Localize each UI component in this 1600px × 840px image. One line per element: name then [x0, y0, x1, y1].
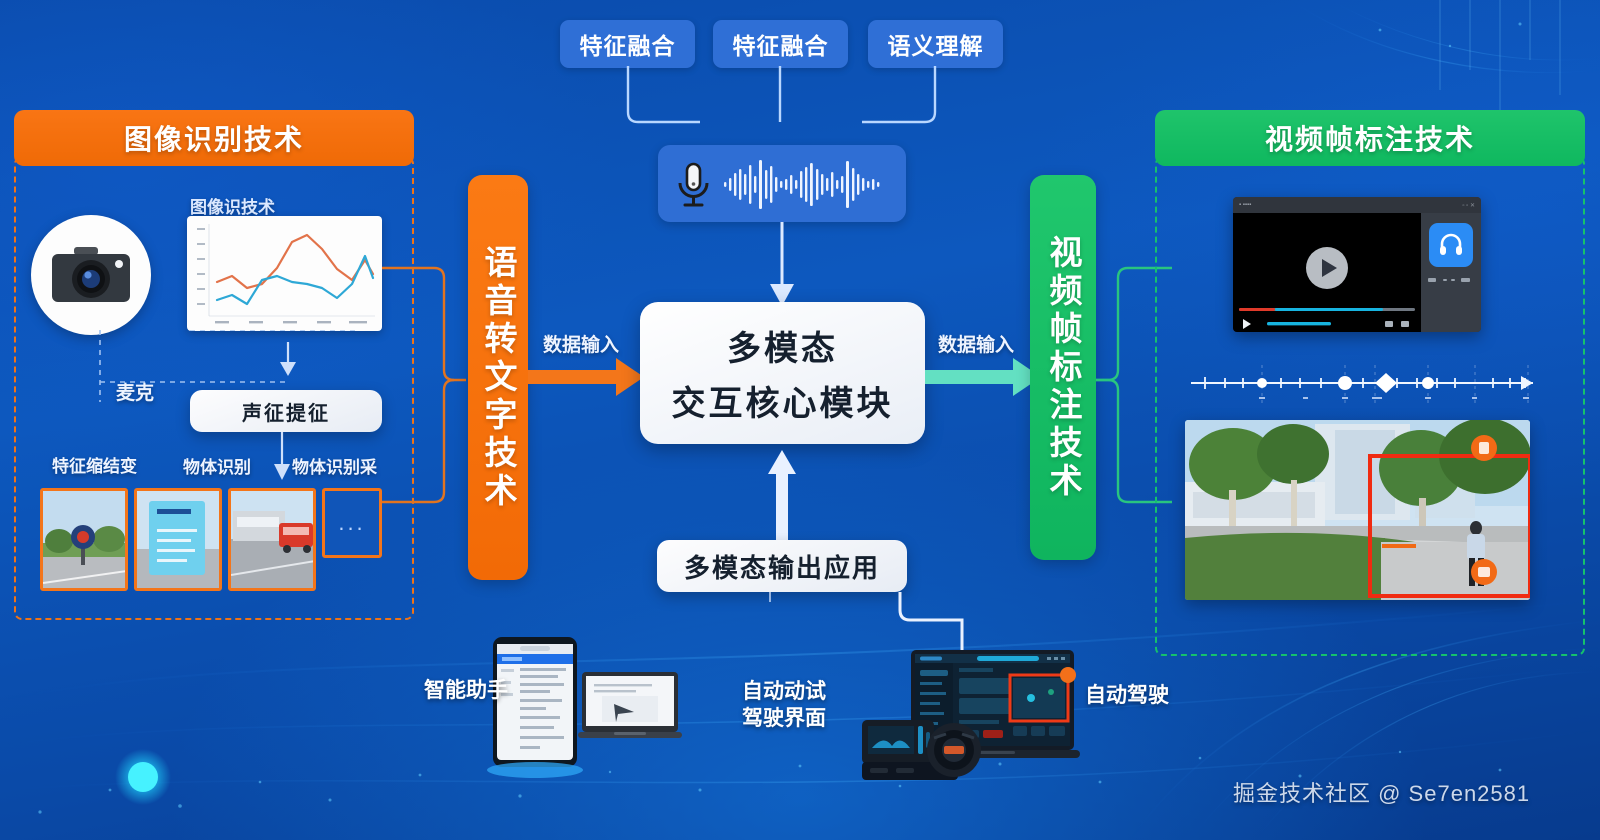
camera-icon — [48, 240, 134, 310]
console-steering-mock — [862, 710, 984, 780]
waveform-icon — [722, 156, 897, 212]
headphone-icon — [1437, 231, 1465, 259]
left-panel-header: 图像识别技术 — [14, 110, 414, 166]
video-player-titlebar: ▪ ▪▪▪▪ ▫ ▫ ✕ — [1233, 197, 1481, 213]
more-dots-label: ... — [338, 510, 365, 536]
arrow-right-data-input — [925, 352, 1043, 402]
video-player-title-text: ▪ ▪▪▪▪ — [1239, 202, 1251, 208]
steering-device-image — [862, 710, 984, 780]
mic-label: 麦克 — [116, 378, 154, 405]
line-chart — [187, 216, 382, 331]
vertical-bar-label: 视频帧标注技术 — [1039, 235, 1087, 501]
video-sidebar — [1421, 213, 1481, 332]
thumbnail-image — [231, 491, 315, 590]
sidebar-controls — [1427, 275, 1475, 285]
thumbnail-image — [137, 491, 221, 590]
diagram-canvas: 特征融合 特征融合 语义理解 — [0, 0, 1600, 840]
output-application-label: 多模态输出应用 — [684, 548, 880, 585]
arrow-output-to-core — [760, 444, 804, 542]
video-controls[interactable] — [1233, 302, 1421, 332]
assistant-laptop-mock[interactable] — [578, 672, 682, 742]
vertical-bar-label: 语音转文字技术 — [474, 245, 522, 511]
vertical-bar-video-annotation[interactable]: 视频帧标注技术 — [1030, 175, 1096, 560]
right-panel-title: 视频帧标注技术 — [1265, 118, 1475, 158]
thumbnail-image — [43, 491, 127, 590]
arrow-mic-to-core — [760, 222, 804, 312]
thumbnail-billboard[interactable] — [134, 488, 222, 591]
app-icon[interactable] — [1429, 223, 1473, 267]
annotation-handle-top[interactable] — [1466, 430, 1502, 466]
label-driving-ui-line1: 自动动试 — [742, 678, 826, 705]
feature-extraction-box[interactable]: 声征提征 — [190, 390, 382, 432]
chip-semantic-understanding[interactable]: 语义理解 — [868, 20, 1003, 68]
vertical-bar-speech-to-text[interactable]: 语音转文字技术 — [468, 175, 528, 580]
feature-extraction-label: 声征提征 — [242, 397, 330, 426]
core-module[interactable]: 多模态 交互核心模块 — [640, 302, 925, 444]
video-screen — [1233, 213, 1421, 332]
left-brace-connector — [382, 260, 472, 510]
label-driving-ui: 自动动试 驾驶界面 — [742, 678, 826, 733]
play-button-icon[interactable] — [1306, 247, 1348, 289]
label-autodrive: 自动驾驶 — [1085, 683, 1169, 709]
watermark: 掘金技术社区 @ Se7en2581 — [1233, 776, 1530, 808]
annotation-handle-bottom[interactable] — [1466, 554, 1502, 590]
core-line-2: 交互核心模块 — [672, 376, 894, 425]
chip-feature-fusion-2[interactable]: 特征融合 — [713, 20, 848, 68]
chip-feature-fusion-1[interactable]: 特征融合 — [560, 20, 695, 68]
window-controls-icon: ▫ ▫ ✕ — [1462, 202, 1475, 209]
phone-base-glow — [487, 762, 583, 778]
left-panel-title: 图像识别技术 — [124, 118, 304, 158]
right-arrow-label: 数据输入 — [938, 330, 1014, 357]
arrow-left-data-input — [528, 352, 646, 402]
left-arrow-label: 数据输入 — [543, 330, 619, 357]
connector-core-to-assistant — [650, 592, 780, 682]
camera-icon-circle — [31, 215, 151, 335]
label-driving-ui-line2: 驾驶界面 — [742, 705, 826, 732]
thumbnail-bus[interactable] — [228, 488, 316, 591]
chart-title: 图像识技术 — [190, 193, 275, 218]
thumb-label-3: 物体识别采 — [292, 453, 377, 478]
thumb-label-2: 物体识别 — [183, 453, 251, 478]
thumb-label-1: 特征缩结变 — [52, 452, 137, 477]
chip-label: 特征融合 — [580, 27, 676, 61]
core-line-1: 多模态 — [727, 321, 838, 370]
line-chart-card — [187, 216, 382, 331]
microphone-icon — [666, 156, 720, 212]
audio-input-widget — [658, 145, 906, 222]
label-smart-assistant: 智能助手 — [424, 678, 508, 704]
chip-label: 语义理解 — [888, 27, 984, 61]
thumbnail-more[interactable]: ... — [322, 488, 382, 558]
chip-label: 特征融合 — [733, 27, 829, 61]
thumbnail-roadsign[interactable] — [40, 488, 128, 591]
chip-connectors — [560, 66, 1020, 156]
right-panel-header: 视频帧标注技术 — [1155, 110, 1585, 166]
video-player-mock[interactable]: ▪ ▪▪▪▪ ▫ ▫ ✕ — [1233, 197, 1481, 332]
frame-timeline[interactable] — [1185, 365, 1545, 410]
assistant-laptop-image — [578, 672, 682, 742]
output-application-box[interactable]: 多模态输出应用 — [657, 540, 907, 592]
